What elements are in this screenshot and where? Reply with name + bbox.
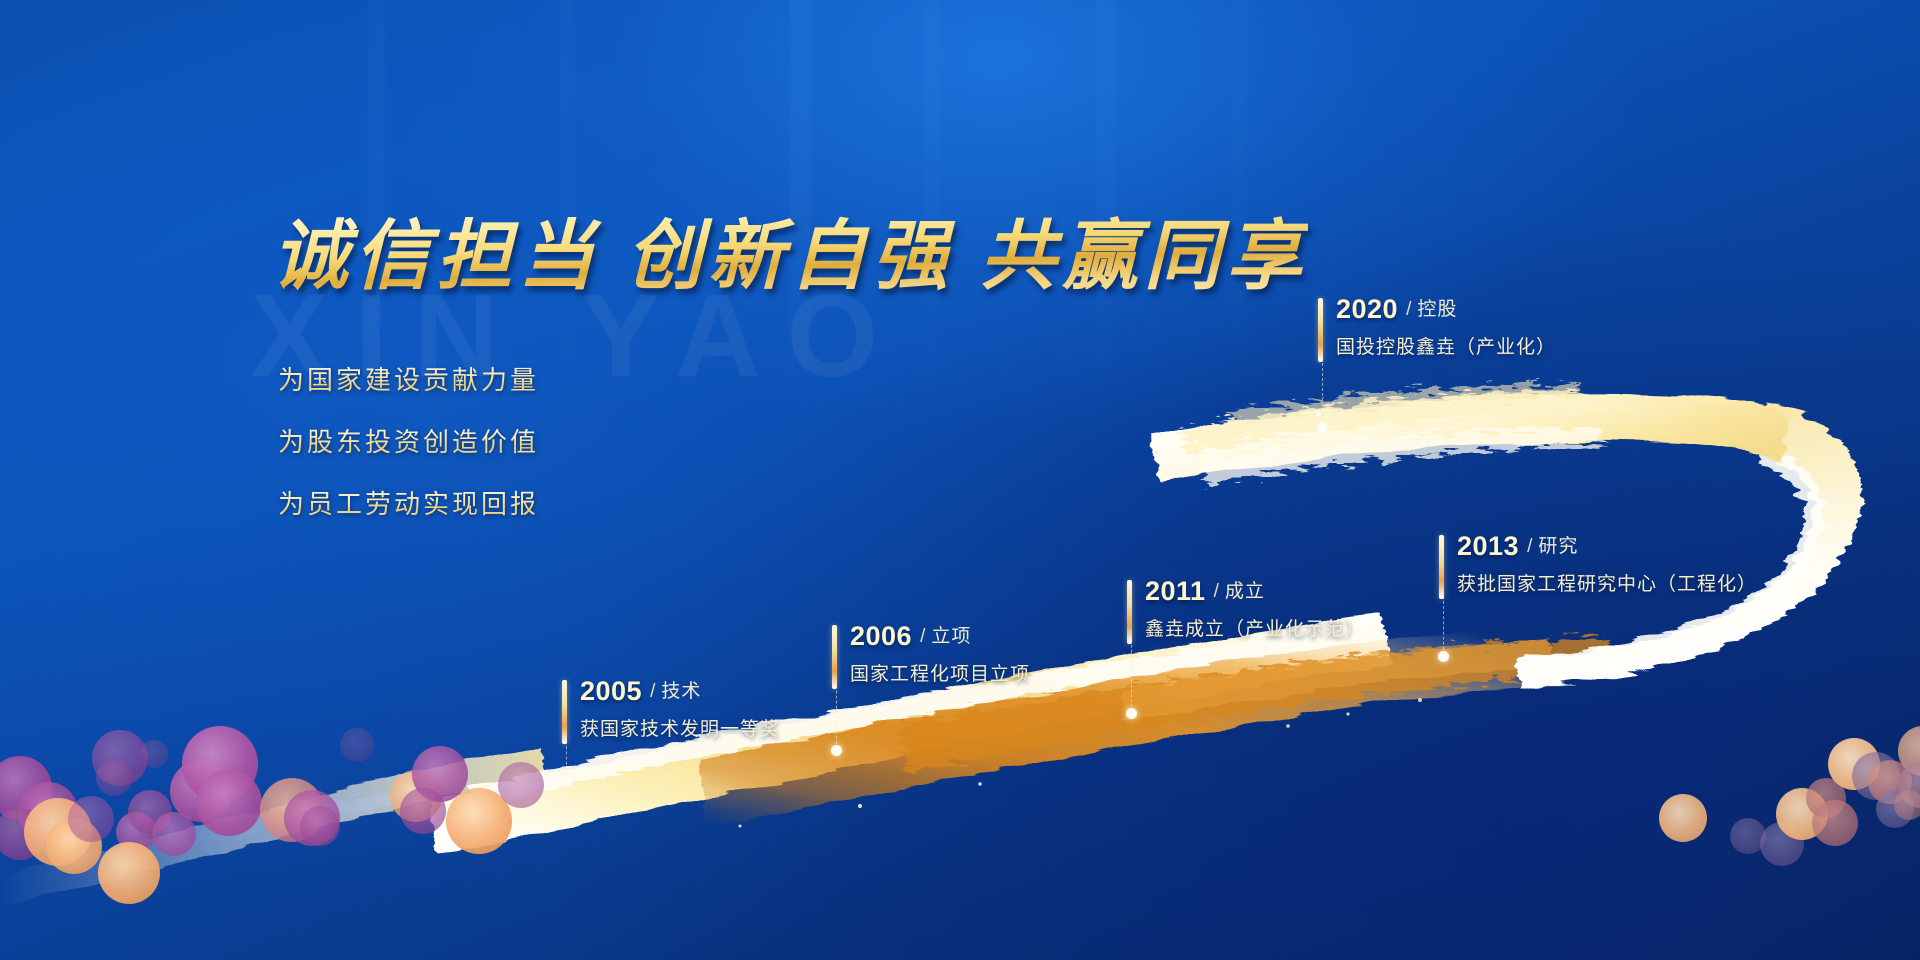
subtitle-line-3: 为员工劳动实现回报 (278, 484, 539, 521)
milestone-description: 国家工程化项目立项 (850, 659, 1030, 686)
milestone-separator: / (1406, 299, 1411, 321)
milestone-tag: 立项 (931, 621, 971, 648)
milestone-year: 2006 (850, 621, 912, 652)
milestone-2006[interactable]: 2006/立项 国家工程化项目立项 (832, 621, 1030, 686)
milestone-2020[interactable]: 2020/控股 国投控股鑫垚（产业化） (1318, 294, 1556, 359)
milestone-description: 获国家技术发明一等奖 (580, 714, 780, 741)
milestone-separator: / (650, 681, 655, 703)
milestone-accent-bar (832, 625, 837, 689)
milestone-year: 2005 (580, 676, 642, 707)
subtitle-line-1: 为国家建设贡献力量 (278, 360, 539, 397)
brush-tail-left (0, 748, 548, 910)
milestone-separator: / (1527, 536, 1532, 558)
milestone-description: 鑫垚成立（产业化示范） (1145, 614, 1365, 641)
brush-hook-top (1150, 384, 1790, 484)
light-streaks-overlay (0, 0, 1920, 960)
milestone-description: 国投控股鑫垚（产业化） (1336, 332, 1556, 359)
milestone-tag: 控股 (1417, 294, 1457, 321)
headline-part-2: 创新自强 (626, 215, 954, 299)
milestone-description: 获批国家工程研究中心（工程化） (1457, 569, 1757, 596)
page-title: 诚信担当创新自强共赢同享 (272, 194, 1308, 304)
milestone-tag: 成立 (1225, 576, 1265, 603)
brush-stroke-artwork (0, 0, 1920, 960)
milestone-year: 2020 (1336, 294, 1398, 325)
headline-part-3: 共赢同享 (980, 215, 1308, 299)
banner-canvas: XIN YAO 诚信担当创新自强共赢同享 为国家建设贡献力量 为股东投资创造价值… (0, 0, 1920, 960)
milestone-accent-bar (562, 680, 567, 744)
milestone-accent-bar (1439, 535, 1444, 599)
milestone-tag: 研究 (1538, 531, 1578, 558)
milestone-tag: 技术 (661, 676, 701, 703)
milestone-2011[interactable]: 2011/成立 鑫垚成立（产业化示范） (1127, 576, 1365, 641)
milestone-year: 2013 (1457, 531, 1519, 562)
milestone-2005[interactable]: 2005/技术 获国家技术发明一等奖 (562, 676, 780, 741)
milestone-separator: / (1214, 581, 1219, 603)
subtitle-line-2: 为股东投资创造价值 (278, 422, 539, 459)
milestone-year: 2011 (1145, 576, 1206, 607)
milestone-accent-bar (1127, 580, 1132, 644)
milestone-accent-bar (1318, 298, 1323, 362)
milestone-separator: / (920, 626, 925, 648)
milestone-2013[interactable]: 2013/研究 获批国家工程研究中心（工程化） (1439, 531, 1757, 596)
headline-part-1: 诚信担当 (272, 215, 600, 299)
